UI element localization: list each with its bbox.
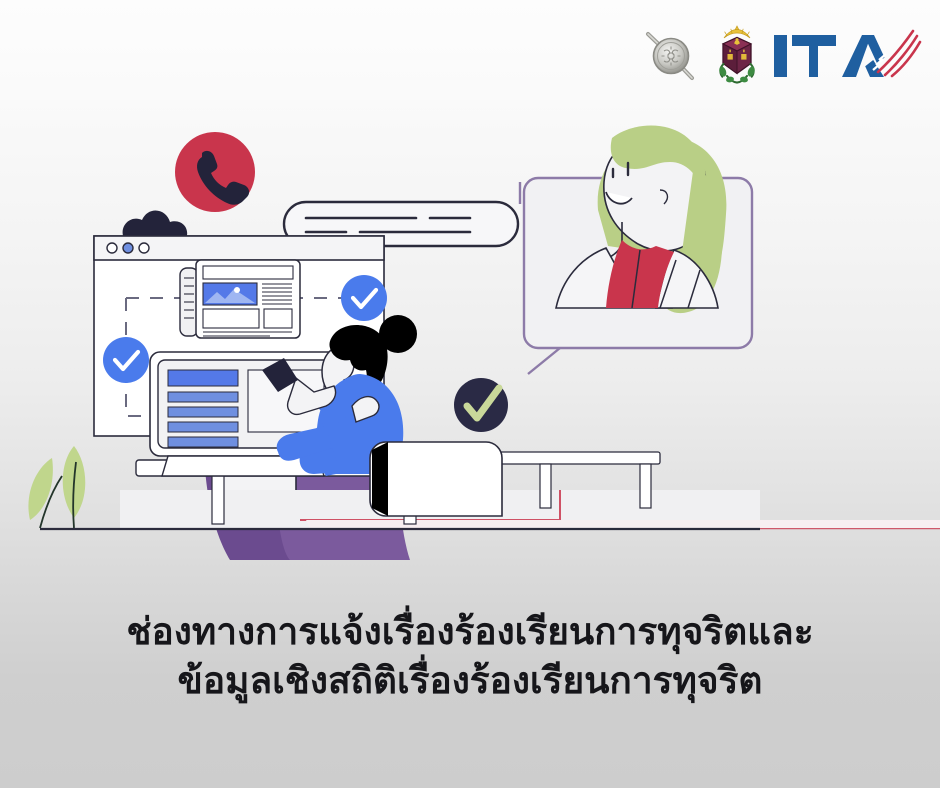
thai-royal-seal-icon [640,25,702,87]
page-title-line-2: ข้อมูลเชิงสถิติเรื่องร้องเรียนการทุจริต [40,657,900,706]
banner-canvas: ช่องทางการแจ้งเรื่องร้องเรียนการทุจริตแล… [0,0,940,788]
plant-icon [28,446,85,528]
verified-check-blue-top [341,275,387,321]
phone-call-badge [175,132,255,212]
verified-check-dark [454,378,508,432]
verified-check-blue-left [103,337,149,383]
window-controls [107,243,149,253]
online-complaint-illustration [0,120,940,590]
page-title: ช่องทางการแจ้งเรื่องร้องเรียนการทุจริตแล… [0,608,940,706]
article-card [180,260,300,338]
garuda-emblem-icon [714,24,760,88]
page-title-line-1: ช่องทางการแจ้งเรื่องร้องเรียนการทุจริตแล… [40,608,900,657]
logo-bar [640,24,922,88]
ita-logo [772,27,922,85]
